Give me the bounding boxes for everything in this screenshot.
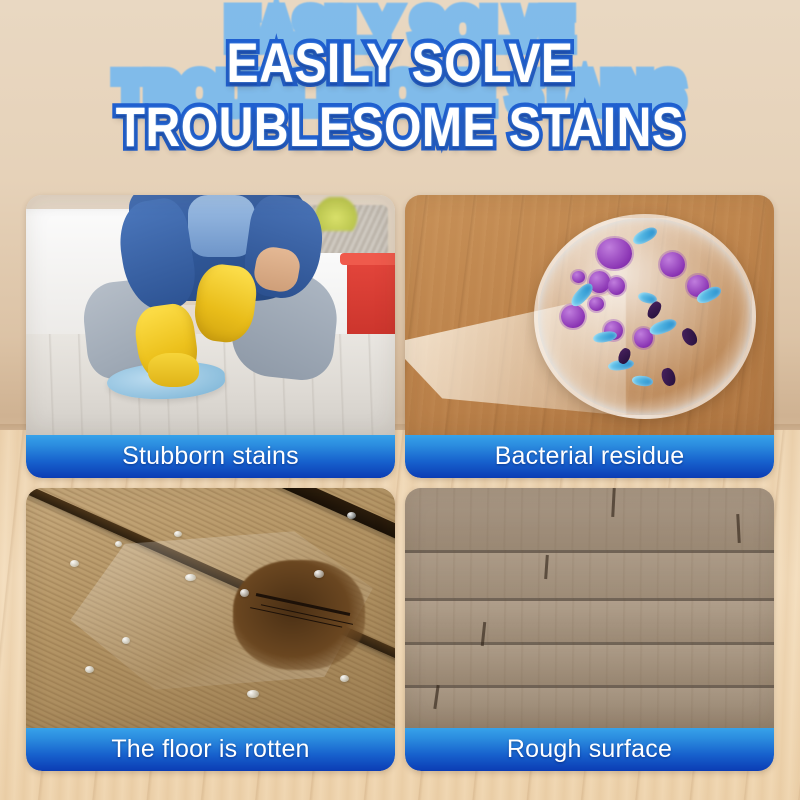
card-floor-is-rotten[interactable]: The floor is rotten <box>26 488 395 771</box>
photo4-plank-4 <box>405 642 774 688</box>
caption-bar-rough-surface: Rough surface <box>405 728 774 771</box>
caption-label-floor-is-rotten: The floor is rotten <box>111 735 309 764</box>
caption-bar-floor-is-rotten: The floor is rotten <box>26 728 395 771</box>
photo3-droplet-8 <box>122 637 130 644</box>
photo3-droplet-3 <box>174 531 182 537</box>
photo2-germ-coccus-2 <box>660 252 686 278</box>
photo4-plank-2 <box>405 550 774 601</box>
caption-label-bacterial-residue: Bacterial residue <box>495 442 685 471</box>
headline-line-1: EASILY SOLVE <box>56 34 744 92</box>
photo3-droplet-5 <box>240 589 249 597</box>
photo2-germ-coccus-4 <box>608 277 625 295</box>
page-title: EASILY SOLVE TROUBLESOME STAINS <box>0 34 800 156</box>
photo3-droplet-1 <box>70 560 79 567</box>
photo2-germ-coccus-8 <box>589 297 604 311</box>
photo3-droplet-7 <box>347 512 356 519</box>
card-rough-surface[interactable]: Rough surface <box>405 488 774 771</box>
cards-row-bottom: The floor is rotten <box>26 488 774 771</box>
photo-rough-plank-surface <box>405 488 774 728</box>
photo2-germ-rod-blue-5 <box>648 316 678 337</box>
photo1-shirt-highlight <box>188 195 254 257</box>
photo4-plank-1 <box>405 488 774 553</box>
photo2-germ-rod-blue-6 <box>593 330 618 344</box>
photo2-germ-coccus-7 <box>561 305 585 329</box>
photo4-plank-3 <box>405 598 774 644</box>
photo3-droplet-10 <box>247 690 259 698</box>
caption-bar-stubborn-stains: Stubborn stains <box>26 435 395 478</box>
photo3-droplet-11 <box>340 675 349 682</box>
photo2-germ-rod-blue-1 <box>630 225 658 247</box>
photo2-germ-rod-dark-4 <box>659 366 677 387</box>
photo2-germ-coccus-5 <box>572 271 585 283</box>
photo-bacteria-on-floor <box>405 195 774 435</box>
photo1-glove-fingers <box>148 353 200 387</box>
photo3-droplet-9 <box>85 666 94 673</box>
caption-label-rough-surface: Rough surface <box>507 735 672 764</box>
photo2-germ-rod-dark-2 <box>679 326 699 348</box>
problem-cards-grid: Stubborn stains <box>26 195 774 771</box>
caption-label-stubborn-stains: Stubborn stains <box>122 442 299 471</box>
headline-line-2: TROUBLESOME STAINS <box>56 98 744 156</box>
photo1-bucket-rim <box>340 253 395 265</box>
caption-bar-bacterial-residue: Bacterial residue <box>405 435 774 478</box>
photo2-germ-rod-blue-8 <box>631 375 653 387</box>
photo3-droplet-6 <box>314 570 324 578</box>
cards-row-top: Stubborn stains <box>26 195 774 478</box>
photo-water-damaged-floor <box>26 488 395 728</box>
card-bacterial-residue[interactable]: Bacterial residue <box>405 195 774 478</box>
photo3-droplet-2 <box>115 541 122 547</box>
photo4-plank-5 <box>405 685 774 728</box>
photo2-magnifier-dish <box>534 214 756 419</box>
card-stubborn-stains[interactable]: Stubborn stains <box>26 195 395 478</box>
photo2-germ-coccus-1 <box>597 238 631 269</box>
product-infographic-poster: EASILY SOLVE TROUBLESOME STAINS EASILY S… <box>0 0 800 800</box>
photo-person-cleaning-floor <box>26 195 395 435</box>
